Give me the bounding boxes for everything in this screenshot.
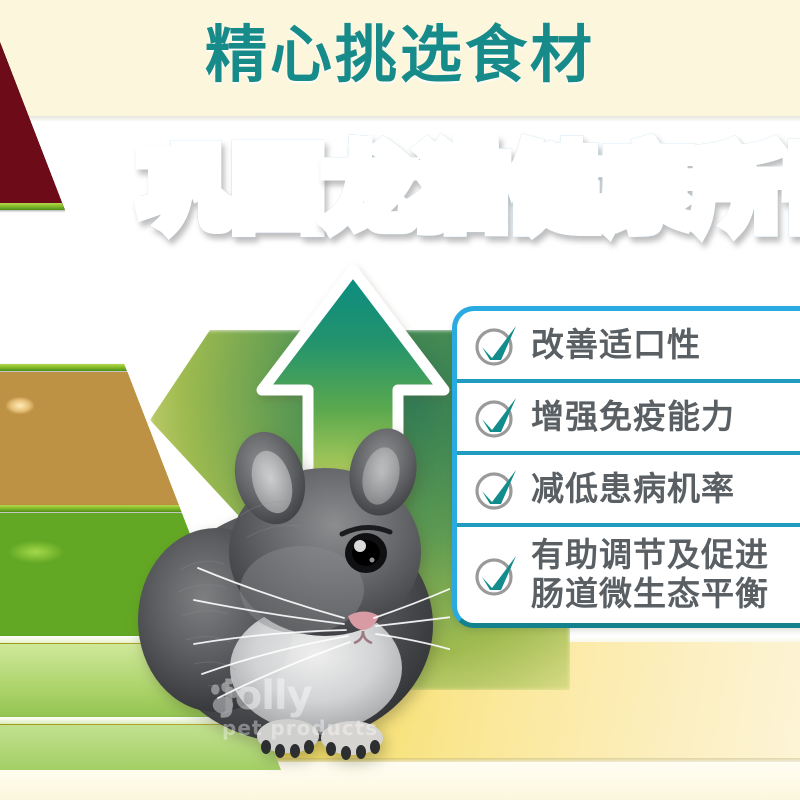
benefit-label: 有助调节及促进 肠道微生态平衡 bbox=[531, 536, 769, 614]
benefit-row-1: 改善适口性 bbox=[457, 311, 800, 383]
benefit-row-4: 有助调节及促进 肠道微生态平衡 bbox=[457, 527, 800, 623]
product-poster: jolly pet products 精心挑选食材 巩固龙猫健康所需 改善适口性 bbox=[0, 0, 800, 800]
benefit-label: 改善适口性 bbox=[531, 326, 701, 365]
check-circle-icon bbox=[471, 550, 521, 600]
benefit-row-2: 增强免疫能力 bbox=[457, 383, 800, 455]
chinchilla-photo bbox=[120, 420, 450, 765]
benefit-label: 减低患病机率 bbox=[531, 470, 735, 509]
poster-title: 巩固龙猫健康所需 bbox=[140, 132, 800, 252]
check-circle-icon bbox=[471, 464, 521, 514]
benefit-row-3: 减低患病机率 bbox=[457, 455, 800, 527]
benefit-label: 增强免疫能力 bbox=[531, 398, 735, 437]
title-rest: 龙猫健康所需 bbox=[324, 132, 800, 248]
benefits-card: 改善适口性 增强免疫能力 减低患病机率 bbox=[452, 306, 800, 628]
title-emphasis: 巩固 bbox=[140, 132, 324, 248]
check-circle-icon bbox=[471, 320, 521, 370]
check-circle-icon bbox=[471, 392, 521, 442]
poster-headline: 精心挑选食材 bbox=[0, 24, 800, 86]
